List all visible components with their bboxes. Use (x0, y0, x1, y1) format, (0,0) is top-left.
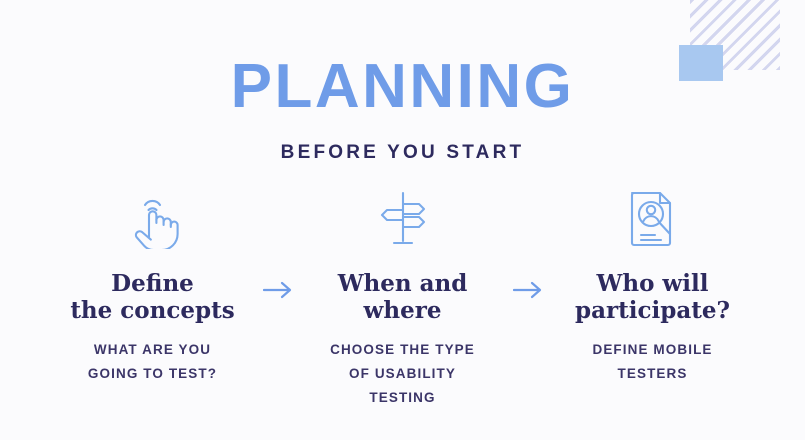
step-title-line: where (338, 297, 468, 324)
step-title-line: the concepts (70, 297, 234, 324)
step-title-line: Define (70, 270, 234, 297)
step-description-line: WHAT ARE YOU (88, 338, 217, 362)
arrow-step-2-to-3 (505, 188, 550, 300)
step-title-line: Who will (575, 270, 730, 297)
step-description: WHAT ARE YOU GOING TO TEST? (88, 338, 217, 385)
step-title: Who will participate? (575, 270, 730, 324)
page-subtitle: BEFORE YOU START (0, 142, 805, 164)
step-title: When and where (338, 270, 468, 324)
pointing-hand-tap-icon (125, 188, 181, 250)
step-description-line: DEFINE MOBILE (592, 338, 712, 362)
step-description-line: OF USABILITY (330, 362, 475, 386)
step-when-and-where: When and where CHOOSE THE TYPE OF USABIL… (300, 188, 505, 409)
step-description: DEFINE MOBILE TESTERS (592, 338, 712, 385)
signpost-directions-icon (372, 188, 434, 250)
steps-row: Define the concepts WHAT ARE YOU GOING T… (0, 188, 805, 409)
step-description-line: CHOOSE THE TYPE (330, 338, 475, 362)
step-description-line: TESTERS (592, 362, 712, 386)
step-description-line: TESTING (330, 386, 475, 410)
step-description: CHOOSE THE TYPE OF USABILITY TESTING (330, 338, 475, 409)
step-define-the-concepts: Define the concepts WHAT ARE YOU GOING T… (50, 188, 255, 386)
page-title: PLANNING (0, 56, 805, 118)
header: PLANNING BEFORE YOU START (0, 56, 805, 164)
document-magnifier-user-icon (624, 188, 682, 250)
step-who-will-participate: Who will participate? DEFINE MOBILE TEST… (550, 188, 755, 386)
step-title: Define the concepts (70, 270, 234, 324)
step-description-line: GOING TO TEST? (88, 362, 217, 386)
step-title-line: participate? (575, 297, 730, 324)
arrow-step-1-to-2 (255, 188, 300, 300)
step-title-line: When and (338, 270, 468, 297)
